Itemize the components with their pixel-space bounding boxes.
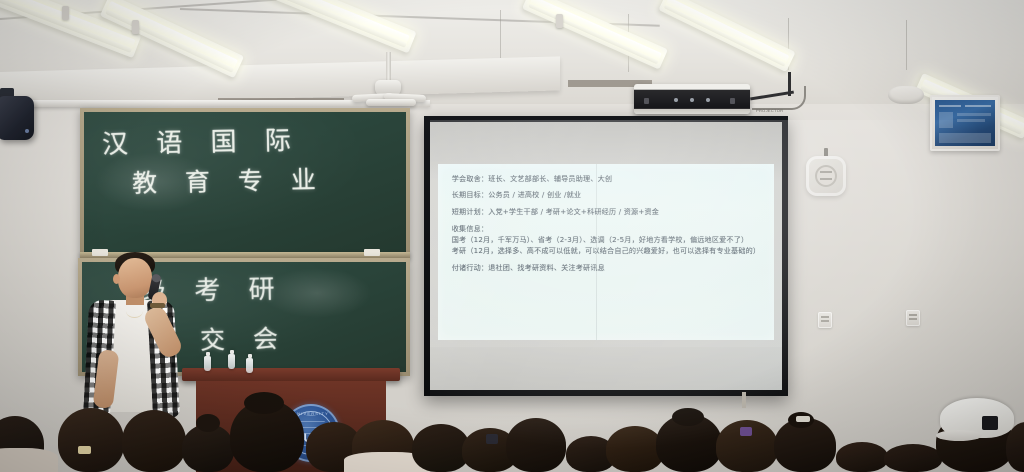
ceiling-panel-line-4 [906,20,907,70]
blackboard-upper: 汉 语 国 际 教 育 专 业 [80,108,410,256]
white-cap [940,398,1014,438]
bottle-cap [248,354,252,358]
bottle-cap [206,352,210,356]
hair-clip [796,416,810,422]
slide-line-1: 学会取舍：班长、文艺部部长、辅导员助理、大创 [452,174,763,184]
blackboard-upper-surface: 汉 语 国 际 教 育 专 业 [84,112,406,252]
chalk-tray-clip-left [92,249,108,256]
projection-screen-surface: 学会取舍：班长、文艺部部长、辅导员助理、大创 长期目标：公务员 / 进高校 / … [430,122,782,390]
chalk-tray-clip-right [364,249,380,256]
lamp-mount-1 [62,6,69,20]
projector-brand-label: PROJECTOR [756,108,783,113]
audience-head [506,418,566,472]
outlet-slot [909,318,917,320]
wall-outlet-left[interactable] [818,312,832,328]
projector-cable [752,86,806,110]
clock-face [815,165,837,187]
presenter-ear [113,274,120,284]
outlet-slot [821,320,829,322]
audience-hair-bun [196,414,220,432]
speaker-led [25,129,29,133]
hair-clip [486,434,498,444]
info-panel-line-2 [965,105,991,107]
bottle-cap [230,350,234,354]
wall-outlet-right[interactable] [906,310,920,326]
hair-clip [740,427,752,436]
outlet-slot [821,316,829,318]
projector-led-1 [674,98,678,102]
wall-speaker [0,96,34,140]
slide-line-3: 短期计划：入党+学生干部 / 考研+论文+科研经历 / 资源+资金 [452,207,763,217]
presenter-necklace [126,304,143,318]
screen-lower-band [430,347,782,390]
projector-vent-1 [644,98,649,104]
audience-head [58,408,124,472]
presenter-head [118,258,152,298]
fan-blade-front [366,99,416,106]
fan-rod [386,52,391,82]
lamp-mount-2 [132,20,139,34]
cap-strap [982,416,998,430]
presentation-slide: 学会取舍：班长、文艺部部长、辅导员助理、大创 长期目标：公务员 / 进高校 / … [438,164,775,341]
info-panel-line-1 [939,105,961,107]
audience-head [884,444,942,472]
info-panel-block-4 [939,133,991,143]
water-bottle-1[interactable] [204,356,211,371]
podium-top [182,368,400,381]
hair-clip [78,446,91,454]
classroom-scene: PROJECTOR 汉 语 国 际 教 育 专 业 [0,0,1024,472]
audience-head [836,442,888,472]
info-panel-block-3 [957,119,985,122]
slide-line-5: 国考（12月，千军万马）、省考（2-3月）、选调（2-5月，好地方看学校，偏远地… [452,235,763,245]
audience-shoulder [0,448,58,472]
audience-hair-bun [244,392,284,414]
blackboard-text-line-2: 教 育 专 业 [132,160,327,200]
audience-head [122,410,186,472]
blackboard-lower-text-line-2: 交 会 [200,319,289,357]
info-display-panel[interactable] [930,95,1000,151]
wall-clock [806,156,846,196]
cap-brim [936,430,982,441]
info-panel-screen [935,100,995,146]
info-panel-block-2 [957,113,991,116]
projection-screen: 学会取舍：班长、文艺部部长、辅导员助理、大创 长期目标：公务员 / 进高校 / … [424,116,788,396]
clock-bar-bottom [820,178,832,180]
projector-vent-2 [730,98,735,104]
info-panel-block-1 [939,112,953,128]
outlet-slot [909,314,917,316]
lamp-mount-4 [556,14,563,28]
audience-hair-bun [672,408,704,426]
slide-line-6: 考研（12月，选择多、高不成可以低就，可以结合自己的兴趣爱好，也可以选择有专业基… [452,246,763,256]
projector-led-2 [690,98,694,102]
projector-led-3 [706,98,710,102]
slide-line-4: 收集信息： [452,224,763,234]
air-vent [888,86,924,104]
screen-support-pole [742,392,746,408]
microphone-grille [151,273,161,283]
water-bottle-3[interactable] [246,358,253,373]
ceiling-projector [634,84,750,114]
presenter-wristwatch [150,303,165,308]
clock-bar-top [820,171,832,173]
slide-line-2: 长期目标：公务员 / 进高校 / 创业 /就业 [452,190,763,200]
slide-seam [596,164,597,341]
blackboard-text-line-1: 汉 语 国 际 [102,120,302,161]
slide-line-7: 付诸行动：退社团、找考研资料、关注考研讯息 [452,263,763,273]
water-bottle-2[interactable] [228,354,235,369]
